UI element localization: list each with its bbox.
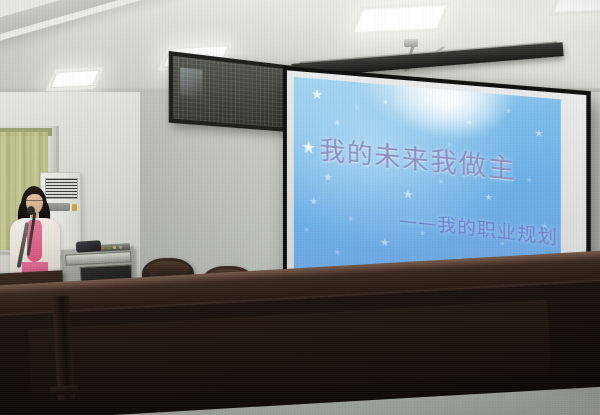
ceiling-light-4 [555, 0, 600, 12]
star-decoration [403, 189, 413, 200]
glasses-icon [26, 200, 43, 205]
star-decoration [334, 248, 341, 256]
ceiling-light-1 [51, 71, 98, 87]
star-decoration [302, 140, 316, 155]
conference-room-photo: 我的未来我做主 ——我的职业规划 www.wondershare.com 放映中 [0, 0, 600, 415]
ac-display-icon [72, 204, 77, 211]
star-decoration [312, 88, 323, 100]
star-decoration [304, 226, 310, 233]
table-pillar-base [50, 385, 78, 396]
table-inset-panel [28, 300, 551, 403]
ceiling-light-3 [355, 6, 446, 32]
grille-reflection [180, 67, 202, 97]
star-decoration [380, 237, 389, 247]
star-decoration [354, 104, 360, 111]
slide-subtitle: ——我的职业规划 [399, 207, 561, 254]
rack-amplifier [65, 251, 131, 265]
star-decoration [324, 172, 333, 182]
star-decoration [310, 197, 318, 206]
desk-telephone[interactable] [76, 240, 102, 253]
star-decoration [334, 119, 341, 127]
mount-bracket [404, 39, 418, 47]
star-decoration [534, 129, 543, 138]
star-decoration [348, 215, 354, 222]
star-decoration [485, 193, 492, 201]
